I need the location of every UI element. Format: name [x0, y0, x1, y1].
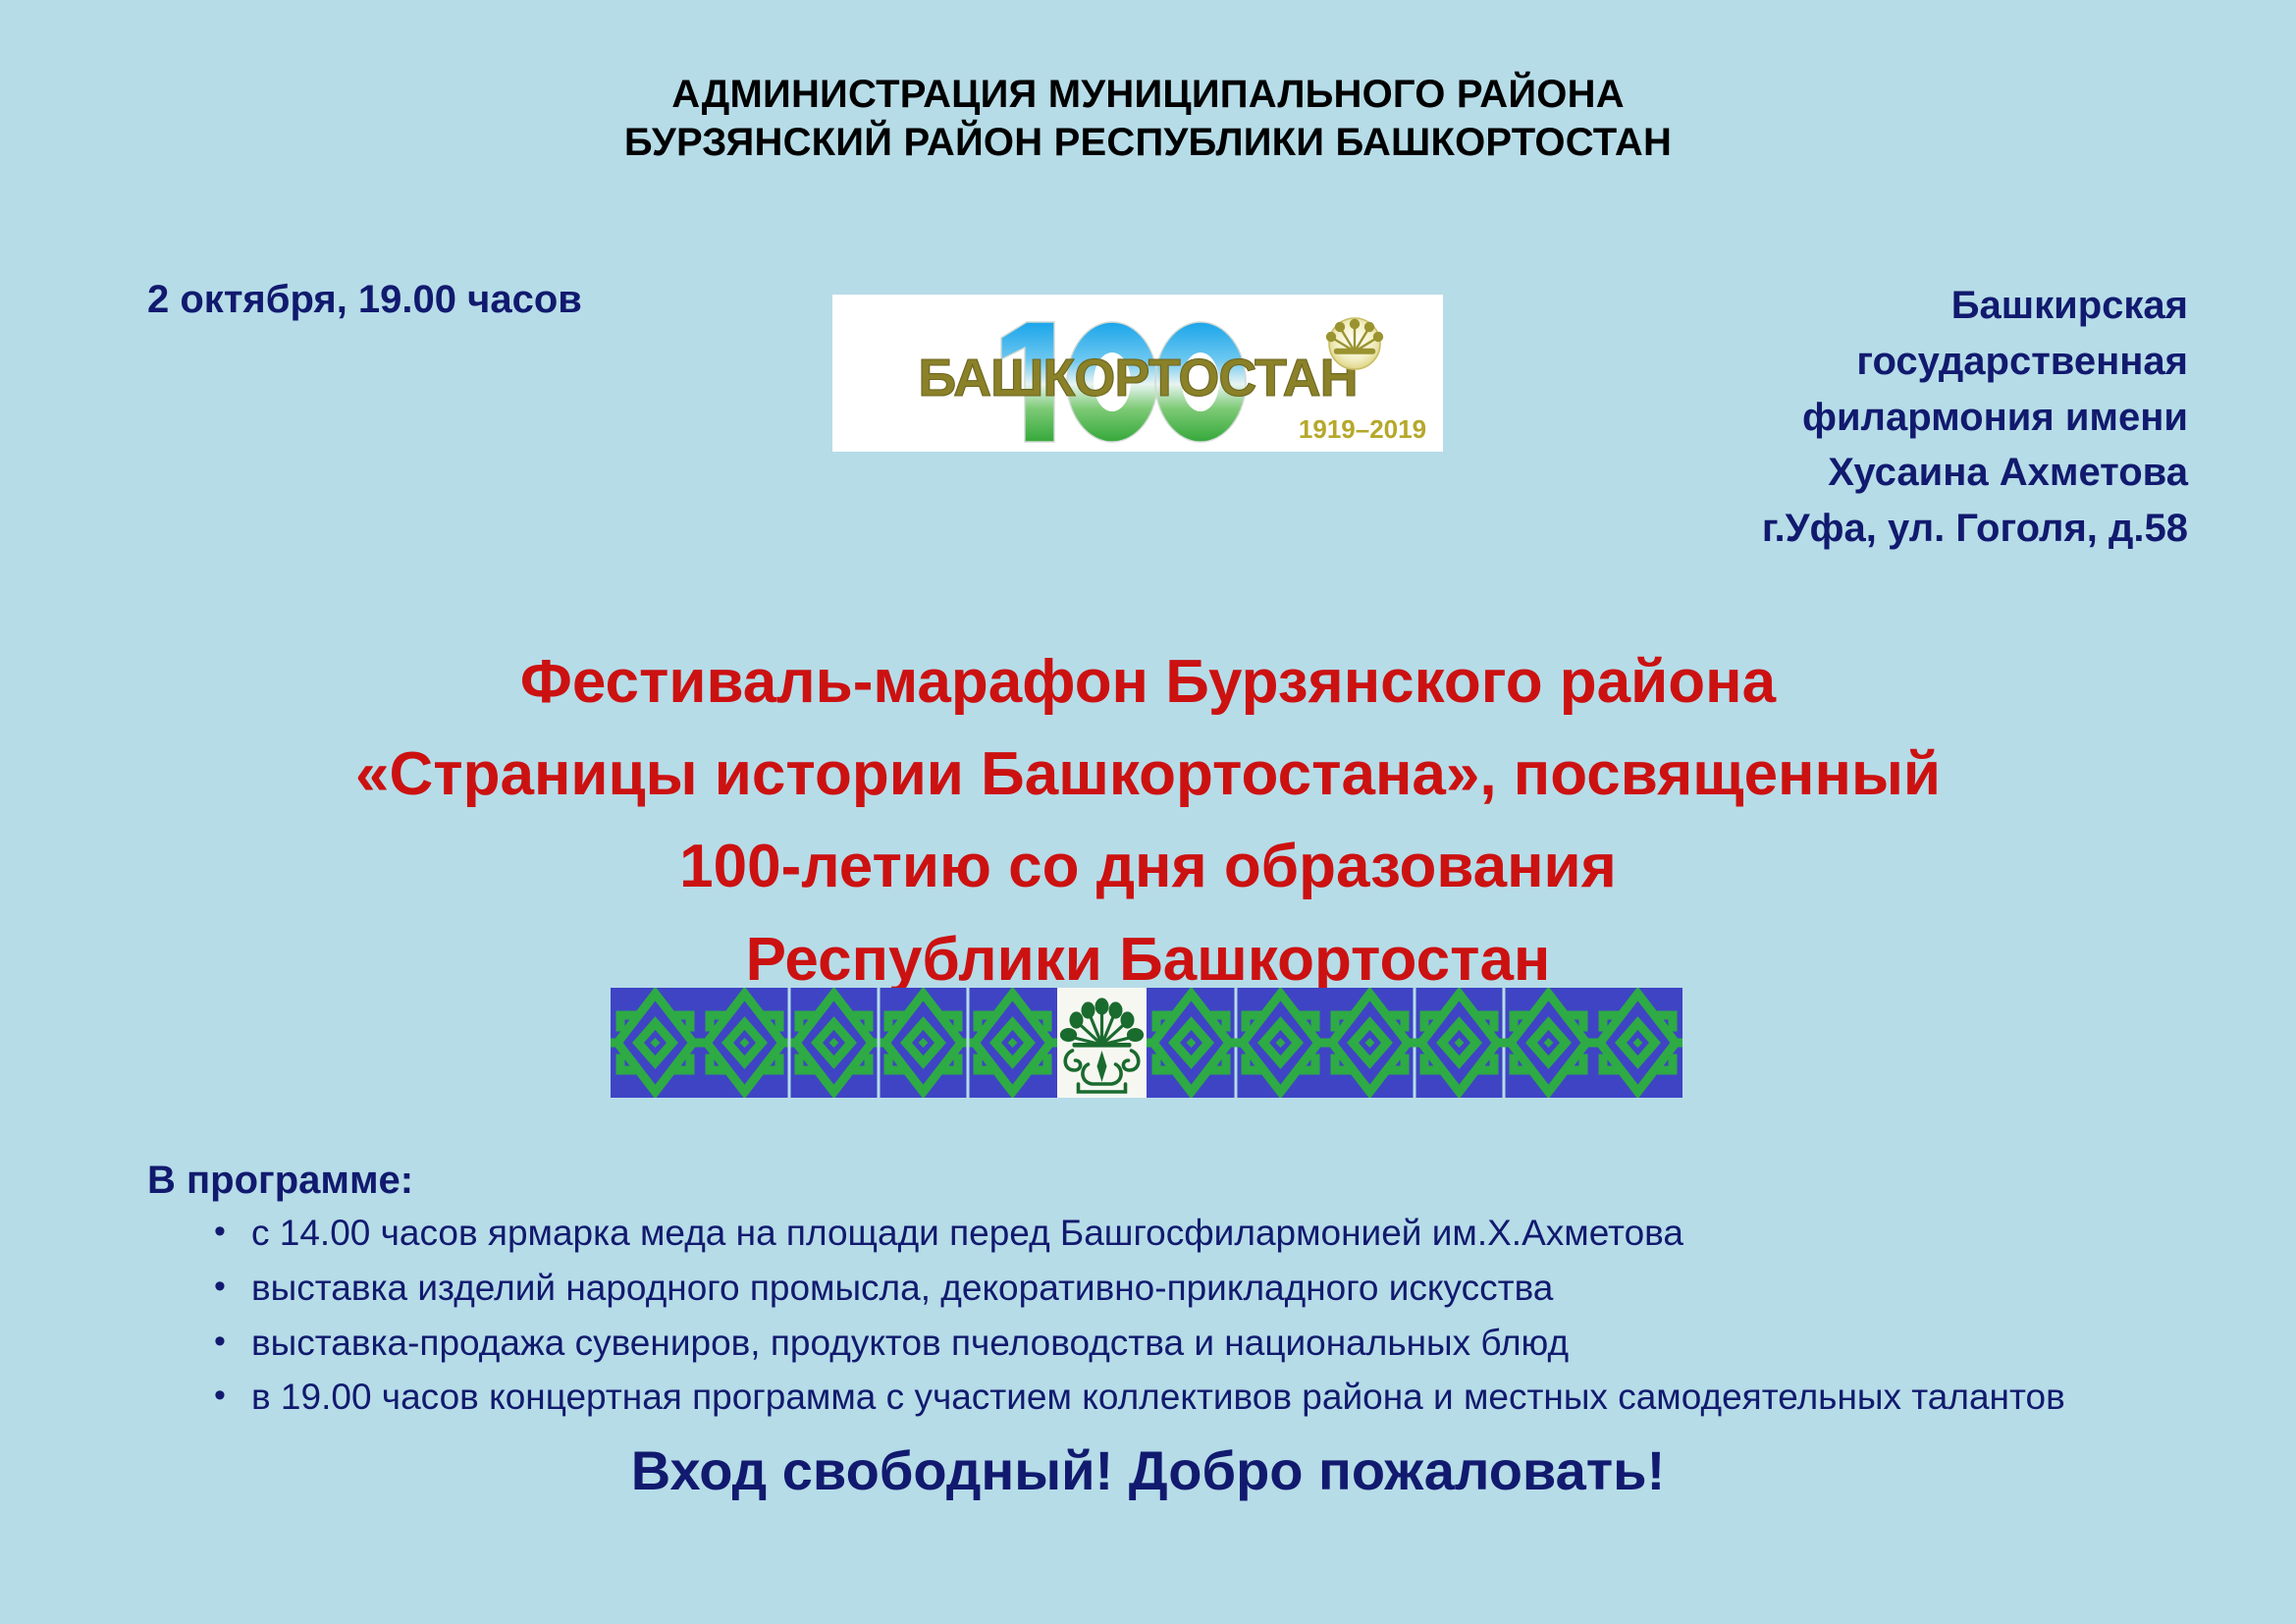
title-line-1: Фестиваль-марафон Бурзянского района — [0, 636, 2296, 729]
list-item-label: выставка-продажа сувениров, продуктов пч… — [251, 1323, 1569, 1363]
bullet-icon: • — [214, 1210, 226, 1254]
program-heading: В программе: — [147, 1157, 2169, 1204]
title-line-2: «Страницы истории Башкортостана», посвящ… — [0, 729, 2296, 821]
list-item: • выставка изделий народного промысла, д… — [208, 1265, 2169, 1313]
venue-line-3: филармония имени — [1658, 390, 2188, 446]
header-line-1: АДМИНИСТРАЦИЯ МУНИЦИПАЛЬНОГО РАЙОНА — [0, 71, 2296, 119]
list-item: • выставка-продажа сувениров, продуктов … — [208, 1320, 2169, 1368]
bashkir-ornament-band — [611, 988, 1682, 1098]
poster-canvas: АДМИНИСТРАЦИЯ МУНИЦИПАЛЬНОГО РАЙОНА БУРЗ… — [0, 0, 2296, 1624]
centenary-logo-inner: БАШКОРТОСТАН — [832, 295, 1443, 452]
program-list: • с 14.00 часов ярмарка меда на площади … — [147, 1210, 2169, 1422]
kurai-flower-icon — [1327, 318, 1382, 369]
venue-address: Башкирская государственная филармония им… — [1658, 278, 2188, 557]
bullet-icon: • — [214, 1265, 226, 1309]
ornament-graphic — [611, 988, 1682, 1098]
centenary-logo-graphic: БАШКОРТОСТАН — [832, 295, 1443, 452]
program-section: В программе: • с 14.00 часов ярмарка мед… — [147, 1157, 2169, 1429]
bullet-icon: • — [214, 1374, 226, 1418]
header-line-2: БУРЗЯНСКИЙ РАЙОН РЕСПУБЛИКИ БАШКОРТОСТАН — [0, 119, 2296, 167]
list-item: • в 19.00 часов концертная программа с у… — [208, 1374, 2169, 1422]
venue-line-1: Башкирская — [1658, 278, 2188, 334]
venue-line-4: Хусаина Ахметова — [1658, 445, 2188, 501]
list-item-label: выставка изделий народного промысла, дек… — [251, 1268, 1553, 1308]
bullet-icon: • — [214, 1320, 226, 1364]
list-item-label: в 19.00 часов концертная программа с уча… — [251, 1377, 2065, 1417]
list-item: • с 14.00 часов ярмарка меда на площади … — [208, 1210, 2169, 1258]
logo-wordmark: БАШКОРТОСТАН — [918, 349, 1357, 407]
event-date: 2 октября, 19.00 часов — [147, 278, 582, 322]
closing-call-to-action: Вход свободный! Добро пожаловать! — [0, 1438, 2296, 1502]
venue-line-5: г.Уфа, ул. Гоголя, д.58 — [1658, 501, 2188, 557]
list-item-label: с 14.00 часов ярмарка меда на площади пе… — [251, 1213, 1683, 1253]
logo-years: 1919–2019 — [1299, 414, 1426, 444]
event-title: Фестиваль-марафон Бурзянского района «Ст… — [0, 636, 2296, 1006]
centenary-logo: БАШКОРТОСТАН — [832, 295, 1443, 452]
organization-header: АДМИНИСТРАЦИЯ МУНИЦИПАЛЬНОГО РАЙОНА БУРЗ… — [0, 71, 2296, 167]
venue-line-2: государственная — [1658, 334, 2188, 390]
title-line-3: 100-летию со дня образования — [0, 821, 2296, 913]
